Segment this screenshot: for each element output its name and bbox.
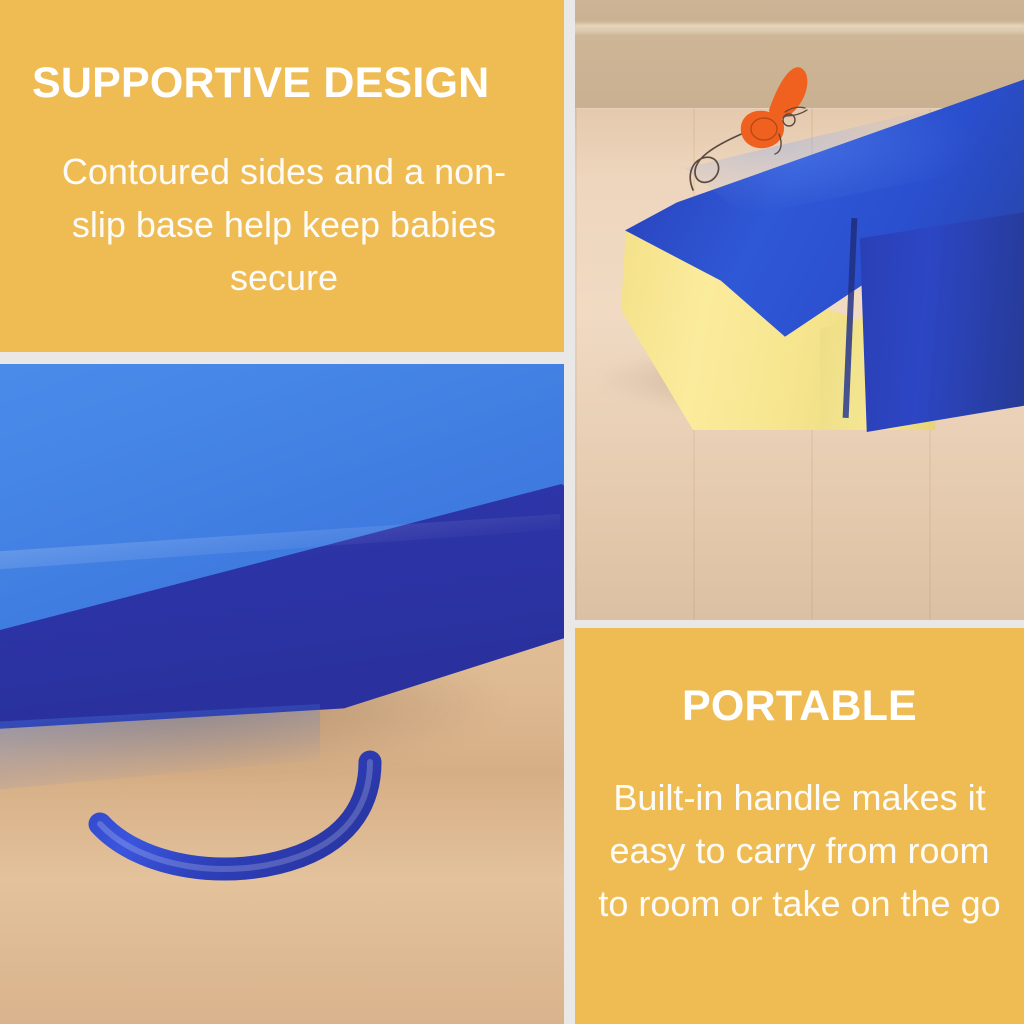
supportive-design-headline: SUPPORTIVE DESIGN	[32, 62, 489, 105]
baseboard-highlight	[575, 24, 1024, 29]
panel-supportive-design: SUPPORTIVE DESIGN Contoured sides and a …	[0, 0, 564, 352]
infographic-canvas: SUPPORTIVE DESIGN Contoured sides and a …	[0, 0, 1024, 1024]
panel-divider-vertical-top	[564, 0, 575, 620]
supportive-design-body-text: Contoured sides and a non-slip base help…	[58, 145, 510, 304]
carry-handle-strap	[70, 704, 490, 904]
panel-divider-horizontal-right	[575, 620, 1024, 628]
panel-divider-horizontal-left	[0, 352, 564, 364]
panel-portable: PORTABLE Built-in handle makes it easy t…	[575, 628, 1024, 1024]
portable-headline: PORTABLE	[575, 685, 1024, 728]
panel-divider-vertical-bottom	[564, 620, 575, 1024]
butterfly-icon	[685, 50, 845, 195]
pad-blue-side-wall	[853, 212, 1024, 432]
product-photo-carry-handle	[0, 364, 564, 1024]
portable-body-text: Built-in handle makes it easy to carry f…	[597, 771, 1002, 930]
product-photo-contoured-pad	[575, 0, 1024, 620]
